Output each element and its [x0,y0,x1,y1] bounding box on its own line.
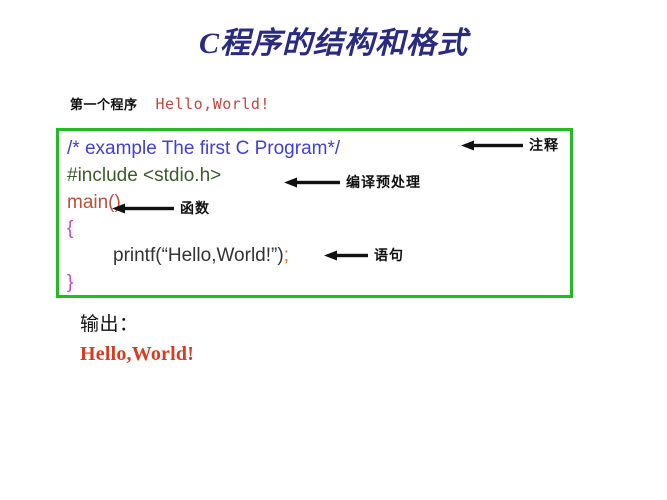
annotation-function: 函数 [112,198,210,218]
annotation-statement-label: 语句 [374,245,404,265]
code-line-printf: printf(“Hello,World!”); [113,246,289,265]
code-line-include: #include <stdio.h> [67,166,221,185]
subtitle-sample-text: Hello,World! [156,95,270,113]
code-line-opening-brace: { [67,219,73,238]
page-title: C程序的结构和格式 [0,18,667,62]
annotation-statement: 语句 [324,245,404,265]
code-line-comment: /* example The first C Program*/ [67,139,340,158]
subtitle-label: 第一个程序 [70,94,138,113]
subtitle-row: 第一个程序 Hello,World! [70,94,270,113]
code-printf-statement: printf(“Hello,World!”) [113,245,284,266]
arrow-left-icon [324,250,368,261]
arrow-left-icon [112,203,174,214]
code-printf-semicolon: ; [284,245,289,266]
annotation-comment-label: 注释 [529,135,559,155]
annotation-comment: 注释 [461,135,559,155]
output-value: Hello,World! [80,343,194,366]
annotation-function-label: 函数 [180,198,210,218]
annotation-preprocess-label: 编译预处理 [346,172,421,192]
annotation-preprocess: 编译预处理 [284,172,421,192]
output-label: 输出： [80,309,194,336]
code-line-closing-brace: } [67,273,73,292]
arrow-left-icon [284,177,340,188]
output-block: 输出： Hello,World! [80,309,194,366]
arrow-left-icon [461,140,523,151]
